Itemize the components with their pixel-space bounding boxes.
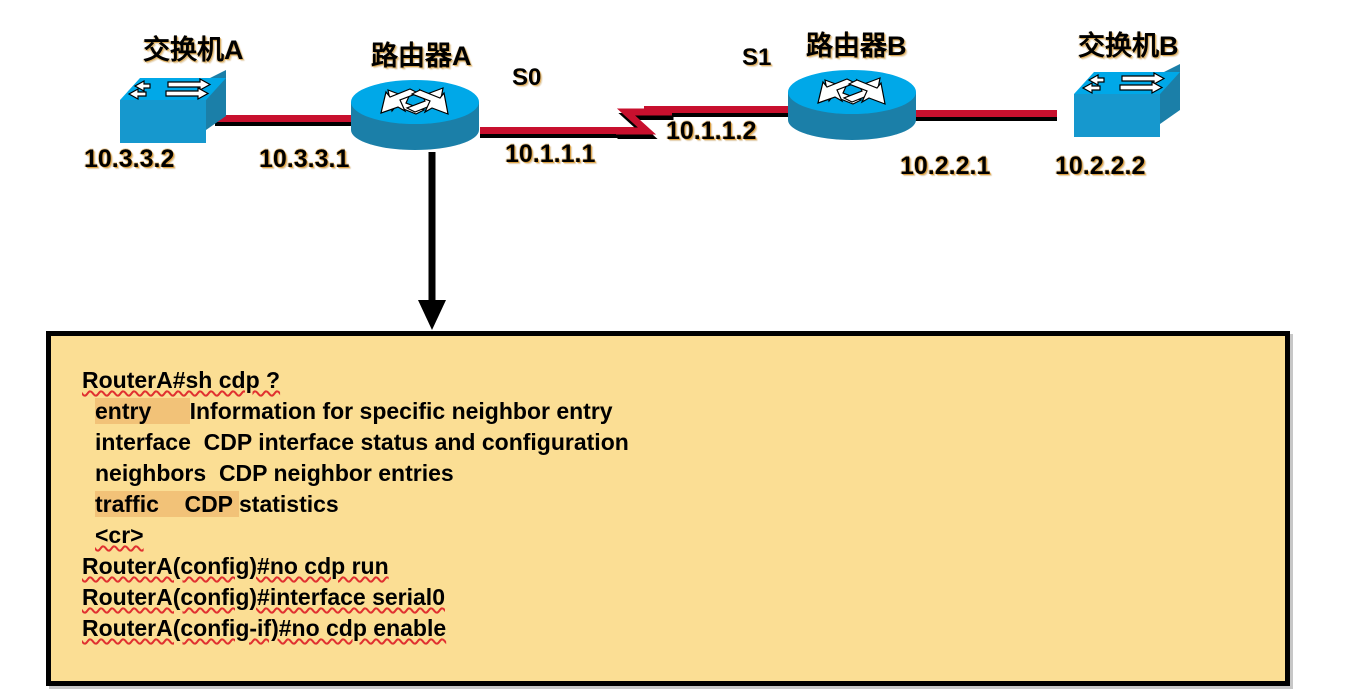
device-router-b[interactable] — [785, 62, 920, 147]
console-text: Information for specific neighbor entry — [190, 398, 613, 424]
console-text: <cr> — [95, 522, 144, 548]
console-text-highlighted: entry — [95, 398, 190, 424]
console-line: traffic CDP statistics — [82, 489, 1275, 520]
device-ip-router-b: 10.2.2.1 — [900, 152, 990, 181]
console-text: statistics — [239, 491, 339, 517]
pointer-arrow-icon — [414, 152, 450, 330]
device-title-switch-a: 交换机A — [143, 28, 244, 67]
interface-label-s0: S0 — [512, 64, 541, 92]
serial-zigzag-icon — [614, 100, 674, 145]
device-switch-a[interactable] — [88, 68, 228, 153]
switch-icon — [88, 68, 228, 153]
console-text: RouterA(config)#no cdp run — [82, 553, 389, 579]
console-text-highlighted: traffic CDP — [95, 491, 239, 517]
console-line: <cr> — [82, 520, 1275, 551]
device-title-router-b: 路由器B — [806, 24, 907, 63]
console-text: interface CDP interface status and confi… — [95, 429, 629, 455]
serial-ip-b: 10.1.1.2 — [666, 117, 756, 146]
device-title-router-a: 路由器A — [371, 34, 472, 73]
console-text: RouterA(config-if)#no cdp enable — [82, 615, 446, 641]
router-icon — [348, 72, 483, 157]
console-text: RouterA(config)#interface serial0 — [82, 584, 445, 610]
console-line: entry Information for specific neighbor … — [82, 396, 1275, 427]
device-ip-switch-a: 10.3.3.2 — [84, 145, 174, 174]
serial-ip-a: 10.1.1.1 — [505, 140, 595, 169]
console-line: RouterA(config-if)#no cdp enable — [82, 613, 1275, 644]
console-line-list: RouterA#sh cdp ?entry Information for sp… — [82, 365, 1275, 644]
console-line: interface CDP interface status and confi… — [82, 427, 1275, 458]
console-line: RouterA(config)#no cdp run — [82, 551, 1275, 582]
device-router-a[interactable] — [348, 72, 483, 157]
router-icon — [785, 62, 920, 147]
device-switch-b[interactable] — [1042, 62, 1182, 147]
console-output-panel: RouterA#sh cdp ?entry Information for sp… — [46, 331, 1290, 686]
console-line: neighbors CDP neighbor entries — [82, 458, 1275, 489]
console-text: neighbors CDP neighbor entries — [95, 460, 454, 486]
device-title-switch-b: 交换机B — [1078, 24, 1179, 63]
device-ip-switch-b: 10.2.2.2 — [1055, 152, 1145, 181]
device-ip-router-a: 10.3.3.1 — [259, 145, 349, 174]
console-line: RouterA#sh cdp ? — [82, 365, 1275, 396]
console-line: RouterA(config)#interface serial0 — [82, 582, 1275, 613]
link-routerb-switchb — [912, 110, 1057, 117]
switch-icon — [1042, 62, 1182, 147]
interface-label-s1: S1 — [742, 44, 771, 72]
console-text: RouterA#sh cdp ? — [82, 367, 280, 393]
